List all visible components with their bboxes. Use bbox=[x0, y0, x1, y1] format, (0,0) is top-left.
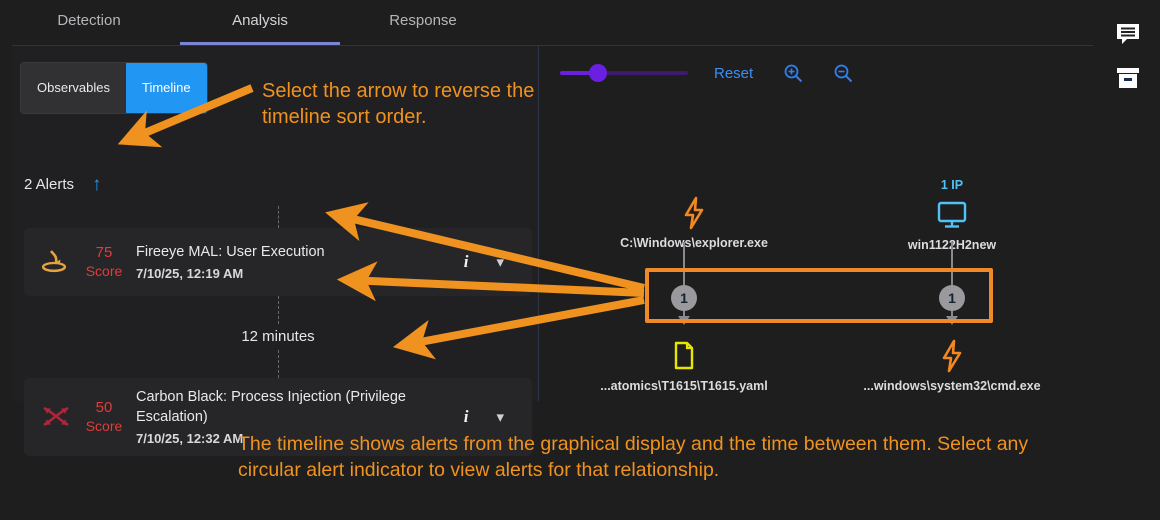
edge-arrowhead-icon bbox=[946, 316, 958, 325]
alert-card[interactable]: 75 Score Fireeye MAL: User Execution 7/1… bbox=[24, 228, 532, 296]
info-icon[interactable]: i bbox=[464, 407, 469, 427]
analysis-screen: Detection Analysis Response Observables … bbox=[0, 0, 1160, 520]
alert-score: 50 Score bbox=[78, 399, 130, 435]
time-gap-label: 12 minutes bbox=[24, 324, 532, 350]
graph-node-label: ...atomics\T1615\T1615.yaml bbox=[584, 379, 784, 393]
graph-node-file-yaml[interactable]: ...atomics\T1615\T1615.yaml bbox=[584, 335, 784, 393]
right-rail bbox=[1106, 12, 1150, 100]
graph-node-host[interactable]: 1 IP win1122H2new bbox=[852, 178, 1052, 252]
ip-count-badge: 1 IP bbox=[852, 178, 1052, 192]
toggle-observables[interactable]: Observables bbox=[21, 63, 126, 113]
alerts-header: 2 Alerts ↑ bbox=[24, 175, 102, 194]
tab-response-label: Response bbox=[389, 12, 457, 29]
zoom-out-icon[interactable] bbox=[833, 63, 853, 83]
alert-score-value: 75 bbox=[78, 244, 130, 263]
slider-knob[interactable] bbox=[589, 64, 607, 82]
monitor-icon bbox=[852, 194, 1052, 236]
graph-node-process-explorer[interactable]: C:\Windows\explorer.exe bbox=[594, 192, 794, 250]
alert-body: Fireeye MAL: User Execution 7/10/25, 12:… bbox=[130, 243, 464, 281]
view-toggle-group: Observables Timeline bbox=[20, 62, 208, 114]
tab-analysis-label: Analysis bbox=[232, 12, 288, 29]
alert-indicator[interactable]: 1 bbox=[671, 285, 697, 311]
info-icon[interactable]: i bbox=[464, 252, 469, 272]
timeline-connector bbox=[278, 296, 279, 324]
tab-detection-label: Detection bbox=[57, 12, 120, 29]
sort-order-arrow-up-icon[interactable]: ↑ bbox=[92, 175, 102, 194]
alert-score: 75 Score bbox=[78, 244, 130, 280]
graph-toolbar: Reset bbox=[560, 60, 853, 86]
alerts-count: 2 Alerts bbox=[24, 176, 74, 193]
alert-actions: i ▾ bbox=[464, 252, 522, 272]
alert-indicator-count: 1 bbox=[948, 290, 956, 306]
reset-button[interactable]: Reset bbox=[714, 65, 753, 82]
main-tabs: Detection Analysis Response bbox=[0, 0, 1093, 45]
toggle-timeline-label: Timeline bbox=[142, 80, 191, 95]
file-icon bbox=[584, 335, 784, 377]
tab-response[interactable]: Response bbox=[348, 0, 498, 45]
lightning-bolt-icon bbox=[852, 335, 1052, 377]
annotation-top: Select the arrow to reverse the timeline… bbox=[262, 78, 562, 131]
graph-node-process-cmd[interactable]: ...windows\system32\cmd.exe bbox=[852, 335, 1052, 393]
alert-actions: i ▾ bbox=[464, 407, 522, 427]
chevron-down-icon[interactable]: ▾ bbox=[496, 408, 504, 426]
alert-score-label: Score bbox=[78, 263, 130, 281]
lightning-bolt-icon bbox=[594, 192, 794, 234]
chevron-down-icon[interactable]: ▾ bbox=[496, 253, 504, 271]
alert-timestamp: 7/10/25, 12:19 AM bbox=[136, 266, 464, 281]
alert-indicator[interactable]: 1 bbox=[939, 285, 965, 311]
java-cup-icon bbox=[34, 247, 78, 277]
relationship-graph: C:\Windows\explorer.exe 1 IP win1122H2ne… bbox=[550, 170, 1150, 405]
archive-button[interactable] bbox=[1106, 56, 1150, 100]
alert-title: Carbon Black: Process Injection (Privile… bbox=[136, 388, 464, 427]
tab-analysis[interactable]: Analysis bbox=[180, 0, 340, 45]
timeline-connector bbox=[278, 350, 279, 378]
process-injection-icon bbox=[34, 403, 78, 431]
zoom-slider[interactable] bbox=[560, 60, 688, 86]
annotation-bottom: The timeline shows alerts from the graph… bbox=[238, 432, 1050, 483]
alert-score-label: Score bbox=[78, 418, 130, 436]
edge-arrowhead-icon bbox=[678, 316, 690, 325]
alert-score-value: 50 bbox=[78, 399, 130, 418]
comments-button[interactable] bbox=[1106, 12, 1150, 56]
graph-node-label: C:\Windows\explorer.exe bbox=[594, 236, 794, 250]
alert-indicator-count: 1 bbox=[680, 290, 688, 306]
graph-node-label: ...windows\system32\cmd.exe bbox=[852, 379, 1052, 393]
toggle-timeline[interactable]: Timeline bbox=[126, 63, 207, 113]
toggle-observables-label: Observables bbox=[37, 80, 110, 95]
alert-timeline-list: 75 Score Fireeye MAL: User Execution 7/1… bbox=[24, 206, 532, 456]
alert-title: Fireeye MAL: User Execution bbox=[136, 243, 464, 263]
tab-detection[interactable]: Detection bbox=[5, 0, 173, 45]
zoom-in-icon[interactable] bbox=[783, 63, 803, 83]
timeline-connector bbox=[278, 206, 279, 228]
